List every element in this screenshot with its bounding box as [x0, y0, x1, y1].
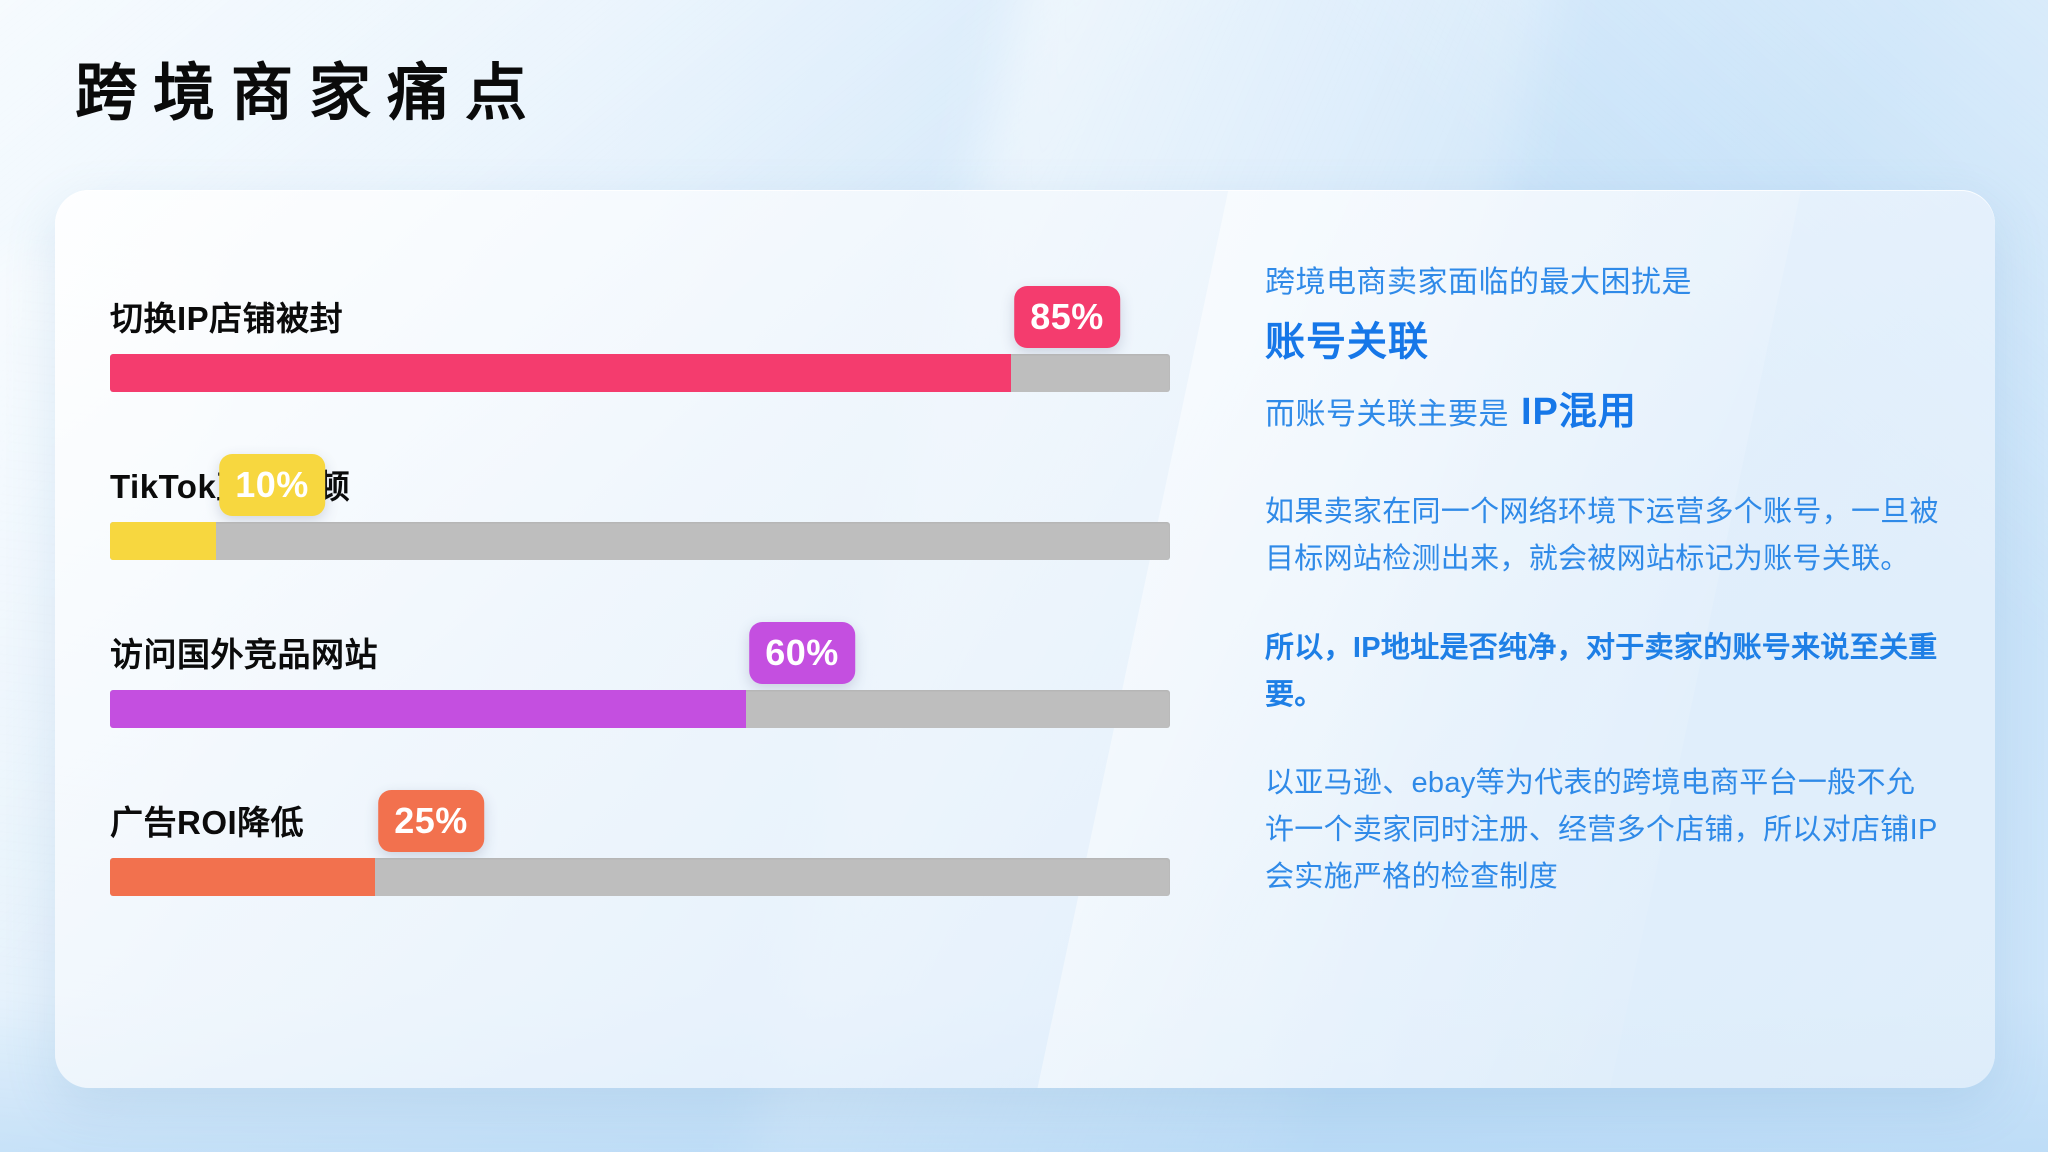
bar-fill: [110, 690, 746, 728]
lead-subline-prefix: 而账号关联主要是: [1265, 398, 1509, 431]
lead-headline: 账号关联: [1265, 312, 1943, 372]
bar-label: 切换IP店铺被封: [110, 292, 343, 340]
bar-track: [110, 354, 1170, 392]
bar-row: TikTok直播卡顿 10%: [110, 440, 1170, 560]
body-paragraph-2: 所以，IP地址是否纯净，对于卖家的账号来说至关重要。: [1265, 625, 1943, 719]
bar-fill: [110, 858, 375, 896]
bar-label: 广告ROI降低: [110, 796, 304, 844]
explanation-panel: 跨境电商卖家面临的最大困扰是 账号关联 而账号关联主要是IP混用 如果卖家在同一…: [1215, 190, 1995, 1088]
bar-row: 广告ROI降低 25%: [110, 776, 1170, 896]
page-title: 跨境商家痛点: [75, 60, 543, 128]
bar-track: [110, 522, 1170, 560]
bar-row: 访问国外竞品网站 60%: [110, 608, 1170, 728]
bar-fill: [110, 522, 216, 560]
bar-track: [110, 690, 1170, 728]
lead-subline: 而账号关联主要是IP混用: [1265, 384, 1943, 441]
pain-point-bar-chart: 切换IP店铺被封 85% TikTok直播卡顿 10% 访问国外竞品网站 60%…: [55, 190, 1215, 1088]
bar-row: 切换IP店铺被封 85%: [110, 272, 1170, 392]
bar-value-badge: 10%: [219, 454, 325, 516]
lead-line: 跨境电商卖家面临的最大困扰是: [1265, 260, 1943, 306]
bar-track: [110, 858, 1170, 896]
bar-value-badge: 25%: [378, 790, 484, 852]
bar-label: 访问国外竞品网站: [110, 628, 378, 676]
lead-subline-emphasis: IP混用: [1521, 391, 1637, 433]
bar-value-badge: 85%: [1014, 286, 1120, 348]
body-paragraph-1: 如果卖家在同一个网络环境下运营多个账号，一旦被目标网站检测出来，就会被网站标记为…: [1265, 489, 1943, 583]
body-paragraph-3: 以亚马逊、ebay等为代表的跨境电商平台一般不允许一个卖家同时注册、经营多个店铺…: [1265, 760, 1943, 901]
bar-fill: [110, 354, 1011, 392]
bar-value-badge: 60%: [749, 622, 855, 684]
content-card: 切换IP店铺被封 85% TikTok直播卡顿 10% 访问国外竞品网站 60%…: [55, 190, 1995, 1088]
